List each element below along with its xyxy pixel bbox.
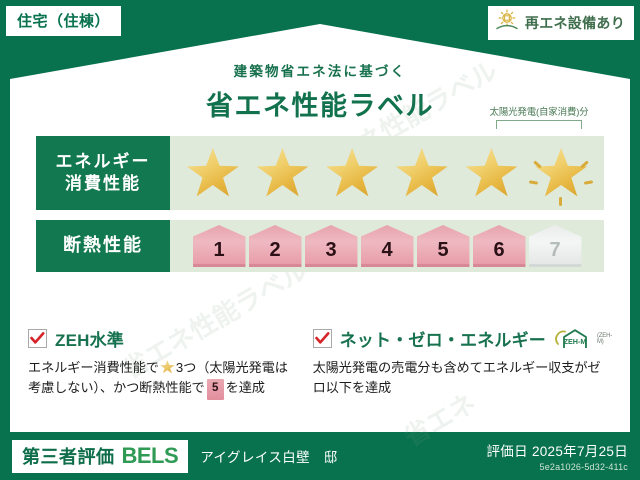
energy-star-6-solar bbox=[534, 147, 588, 199]
zeh-m-logo: ZEH-M (ZEH-M) bbox=[555, 328, 612, 350]
row-insulation-levels: 1 2 3 4 5 6 7 bbox=[170, 220, 604, 272]
svg-text:ZEH-M: ZEH-M bbox=[564, 337, 587, 346]
criterion-nze-title: ネット・ゼロ・エネルギー bbox=[340, 326, 546, 351]
row-energy-label-line1: エネルギー bbox=[56, 151, 151, 173]
criterion-zeh-description: エネルギー消費性能で3つ（太陽光発電は考慮しない）、かつ断熱性能で5を達成 bbox=[28, 358, 295, 400]
energy-star-5 bbox=[464, 147, 518, 199]
criterion-nze-description: 太陽光発電の売電分も含めてエネルギー収支がゼロ以下を達成 bbox=[313, 358, 612, 399]
row-energy-label: エネルギー 消費性能 bbox=[36, 136, 170, 210]
label-footer: 第三者評価 BELS アイグレイス白壁 邸 評価日 2025年7月25日 5e2… bbox=[0, 432, 640, 480]
solar-note-bracket bbox=[496, 120, 582, 129]
row-energy-performance: エネルギー 消費性能 太陽光発電(自家消費)分 bbox=[36, 136, 604, 210]
insulation-grade-badge: 5 bbox=[207, 379, 224, 400]
star-icon bbox=[160, 360, 175, 374]
solar-note-text: 太陽光発電(自家消費)分 bbox=[478, 104, 600, 118]
insulation-level-5: 5 bbox=[417, 225, 470, 267]
insulation-level-1: 1 bbox=[193, 225, 246, 267]
zeh-m-house-icon: ZEH-M bbox=[555, 328, 595, 350]
zeh-desc-part1: エネルギー消費性能で bbox=[28, 360, 159, 375]
insulation-level-7-inactive: 7 bbox=[529, 225, 582, 267]
row-energy-stars: 太陽光発電(自家消費)分 bbox=[170, 136, 604, 210]
zeh-desc-part3: を達成 bbox=[226, 380, 265, 395]
energy-star-3 bbox=[325, 147, 379, 199]
house-type-tag: 住宅（住棟） bbox=[6, 6, 121, 36]
evaluation-date-value: 2025年7月25日 bbox=[532, 444, 628, 459]
row-insulation-label: 断熱性能 bbox=[36, 220, 170, 272]
building-name: アイグレイス白壁 邸 bbox=[200, 446, 338, 466]
row-insulation-label-text: 断熱性能 bbox=[63, 234, 143, 257]
title-subtitle: 建築物省エネ法に基づく bbox=[0, 60, 640, 80]
criteria-section: ZEH水準 エネルギー消費性能で3つ（太陽光発電は考慮しない）、かつ断熱性能で5… bbox=[28, 326, 612, 400]
checkbox-checked-icon bbox=[313, 329, 332, 348]
evaluation-uid: 5e2a1026-5d32-411c bbox=[486, 462, 628, 472]
performance-rows: エネルギー 消費性能 太陽光発電(自家消費)分 bbox=[36, 136, 604, 272]
evaluation-date: 評価日 2025年7月25日 bbox=[486, 440, 628, 460]
zeh-m-logo-sub: (ZEH-M) bbox=[597, 333, 612, 345]
insulation-level-6: 6 bbox=[473, 225, 526, 267]
energy-star-2 bbox=[255, 147, 309, 199]
renewable-badge-label: 再エネ設備あり bbox=[525, 13, 625, 33]
solar-sun-icon bbox=[494, 9, 520, 36]
insulation-level-3: 3 bbox=[305, 225, 358, 267]
evaluation-date-label: 評価日 bbox=[486, 444, 527, 459]
checkbox-checked-icon bbox=[28, 329, 47, 348]
criterion-net-zero-energy: ネット・ゼロ・エネルギー ZEH-M (ZEH-M) 太陽光発電の売電分も含めて… bbox=[313, 326, 612, 400]
bels-en-label: BELS bbox=[122, 443, 179, 469]
renewable-equipment-badge: 再エネ設備あり bbox=[488, 6, 634, 40]
bels-jp-label: 第三者評価 bbox=[22, 443, 115, 469]
criterion-zeh-title: ZEH水準 bbox=[55, 326, 124, 351]
energy-star-4 bbox=[395, 147, 449, 199]
footer-evaluation-info: 評価日 2025年7月25日 5e2a1026-5d32-411c bbox=[486, 440, 628, 472]
bels-evaluation-mark: 第三者評価 BELS bbox=[12, 440, 188, 473]
energy-star-1 bbox=[186, 147, 240, 199]
row-insulation-performance: 断熱性能 1 2 3 4 5 6 7 bbox=[36, 220, 604, 272]
insulation-level-2: 2 bbox=[249, 225, 302, 267]
energy-performance-label: 省エネ性能ラベル 省エネ性能ラベル 省エネ 住宅（住棟） bbox=[0, 0, 640, 480]
solar-self-consumption-annotation: 太陽光発電(自家消費)分 bbox=[478, 104, 600, 129]
criterion-zeh-standard: ZEH水準 エネルギー消費性能で3つ（太陽光発電は考慮しない）、かつ断熱性能で5… bbox=[28, 326, 295, 400]
criterion-zeh-header: ZEH水準 bbox=[28, 326, 295, 351]
criterion-nze-header: ネット・ゼロ・エネルギー ZEH-M (ZEH-M) bbox=[313, 326, 612, 351]
row-energy-label-line2: 消費性能 bbox=[65, 173, 141, 195]
insulation-level-4: 4 bbox=[361, 225, 414, 267]
